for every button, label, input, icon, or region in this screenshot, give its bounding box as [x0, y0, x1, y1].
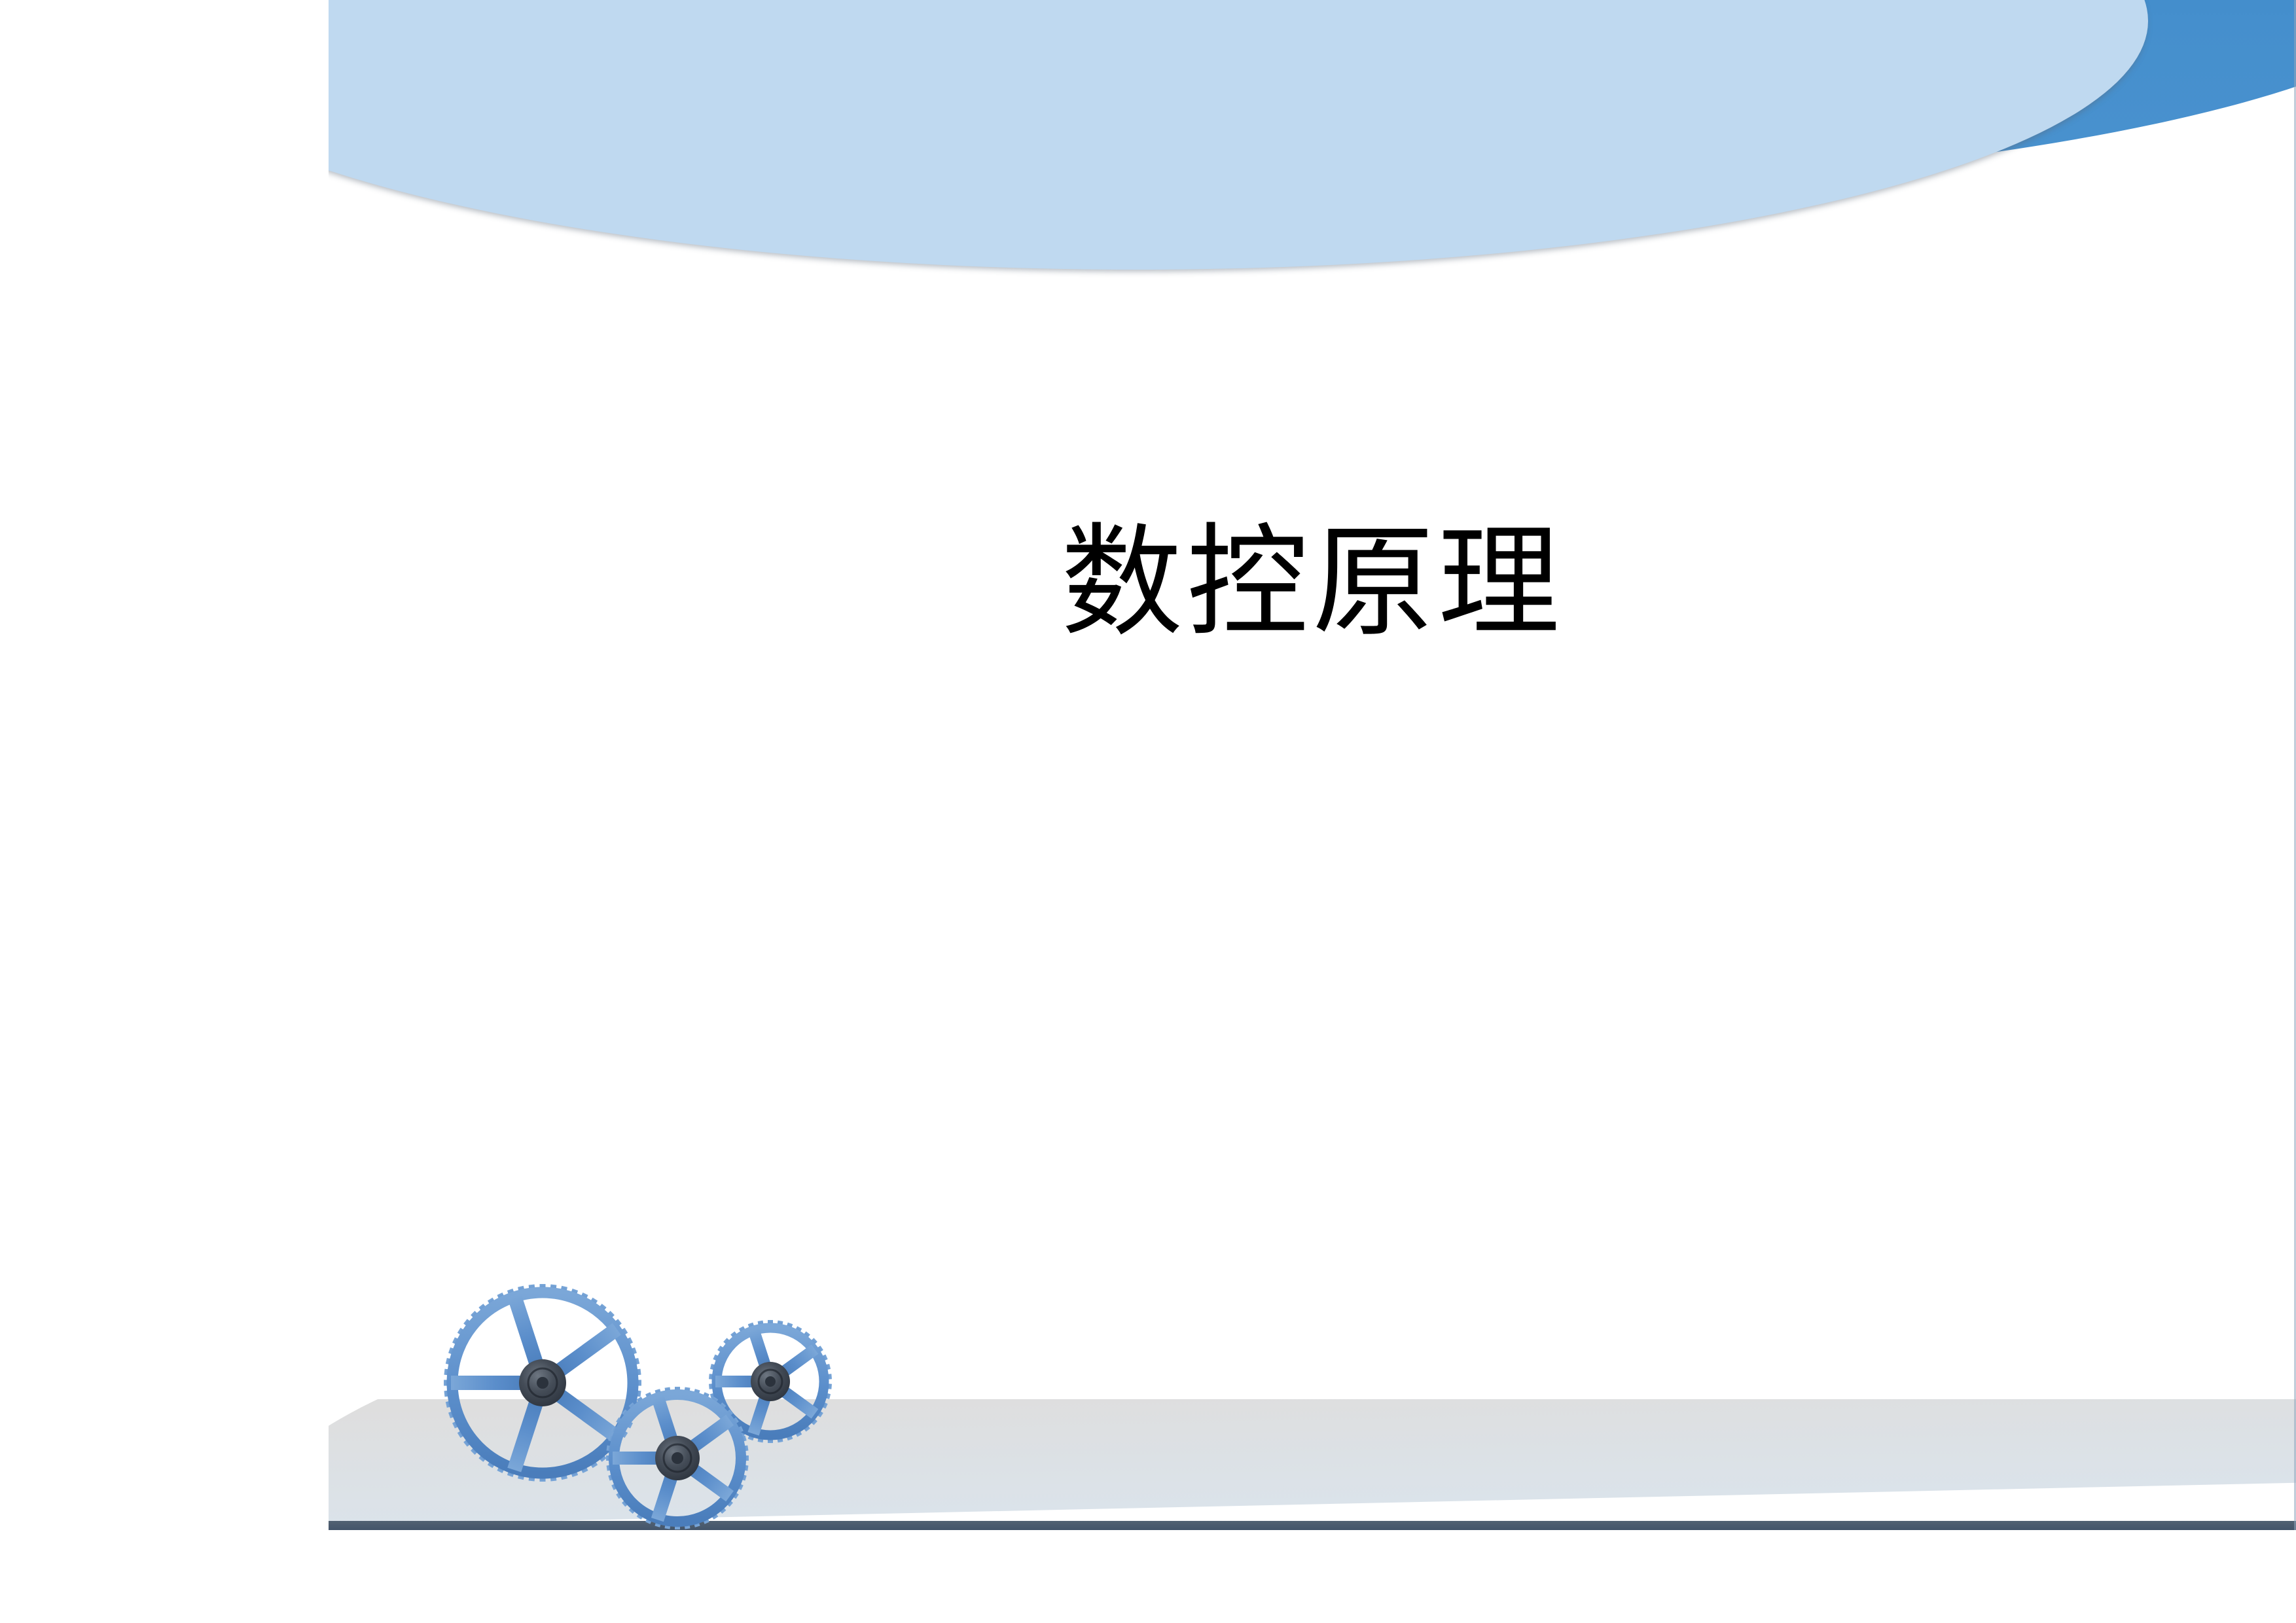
header-inner-ellipse: [329, 0, 2148, 270]
page-title: 数控原理: [329, 517, 2296, 649]
presentation-slide: 数控原理: [329, 0, 2296, 1530]
gears-graphic: [408, 1252, 906, 1530]
slide-canvas-page: 数控原理: [0, 0, 2296, 1623]
header-banner: [329, 0, 2296, 419]
